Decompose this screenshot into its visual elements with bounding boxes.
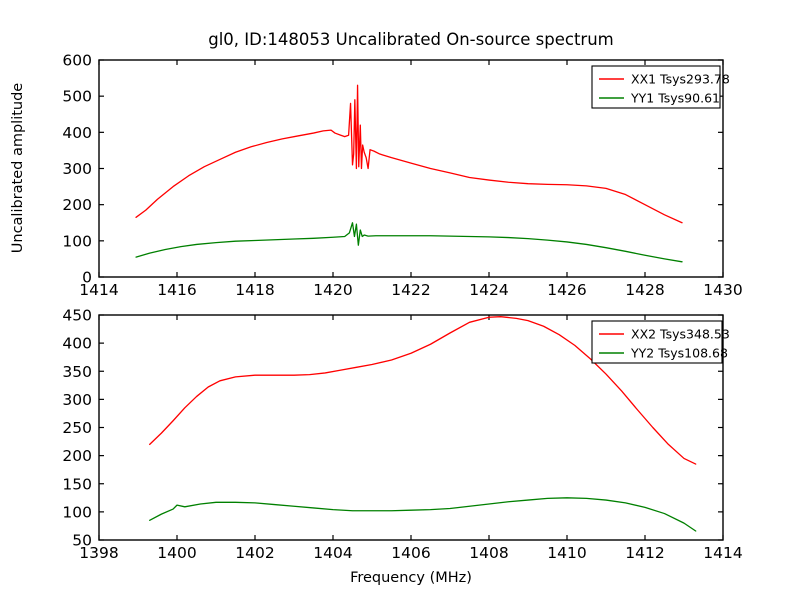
x-tick-label: 1400 <box>157 544 196 562</box>
x-tick-label: 1408 <box>469 544 508 562</box>
y-tick-label: 250 <box>62 419 92 437</box>
x-tick-label: 1404 <box>313 544 352 562</box>
y-tick-label: 500 <box>62 88 92 106</box>
legend-label-xx1: XX1 Tsys293.78 <box>631 72 730 87</box>
x-tick-label: 1420 <box>313 281 352 299</box>
x-tick-label: 1414 <box>703 544 742 562</box>
bottom-panel-xlabel: Frequency (MHz) <box>350 570 472 586</box>
x-tick-label: 1430 <box>703 281 742 299</box>
y-tick-label: 300 <box>62 391 92 409</box>
y-tick-label: 150 <box>62 475 92 493</box>
y-tick-label: 600 <box>62 52 92 70</box>
legend-label-yy1: YY1 Tsys90.61 <box>630 91 720 106</box>
x-tick-label: 1412 <box>625 544 664 562</box>
x-tick-label: 1422 <box>391 281 430 299</box>
y-tick-label: 350 <box>62 363 92 381</box>
x-tick-label: 1426 <box>547 281 586 299</box>
x-tick-label: 1410 <box>547 544 586 562</box>
x-tick-label: 1418 <box>235 281 274 299</box>
y-tick-label: 200 <box>62 196 92 214</box>
top-panel-ylabel: Uncalibrated amplitude <box>10 83 26 254</box>
matplotlib-canvas: gl0, ID:148053 Uncalibrated On-source sp… <box>0 0 800 600</box>
x-tick-label: 1424 <box>469 281 508 299</box>
y-tick-label: 400 <box>62 335 92 353</box>
y-tick-label: 400 <box>62 124 92 142</box>
figure-title: gl0, ID:148053 Uncalibrated On-source sp… <box>208 30 614 49</box>
x-tick-label: 1416 <box>157 281 196 299</box>
y-tick-label: 450 <box>62 307 92 325</box>
y-tick-label: 100 <box>62 503 92 521</box>
legend-label-yy2: YY2 Tsys108.68 <box>630 346 728 361</box>
legend-label-xx2: XX2 Tsys348.53 <box>631 327 730 342</box>
y-tick-label: 50 <box>72 532 92 550</box>
y-tick-label: 300 <box>62 160 92 178</box>
y-tick-label: 0 <box>82 269 92 287</box>
top-panel-legend[interactable]: XX1 Tsys293.78YY1 Tsys90.61 <box>592 66 730 108</box>
x-tick-label: 1402 <box>235 544 274 562</box>
y-tick-label: 200 <box>62 447 92 465</box>
bottom-panel-legend[interactable]: XX2 Tsys348.53YY2 Tsys108.68 <box>592 321 730 363</box>
x-tick-label: 1406 <box>391 544 430 562</box>
y-tick-label: 100 <box>62 232 92 250</box>
spectrum-figure: gl0, ID:148053 Uncalibrated On-source sp… <box>0 0 800 600</box>
x-tick-label: 1428 <box>625 281 664 299</box>
